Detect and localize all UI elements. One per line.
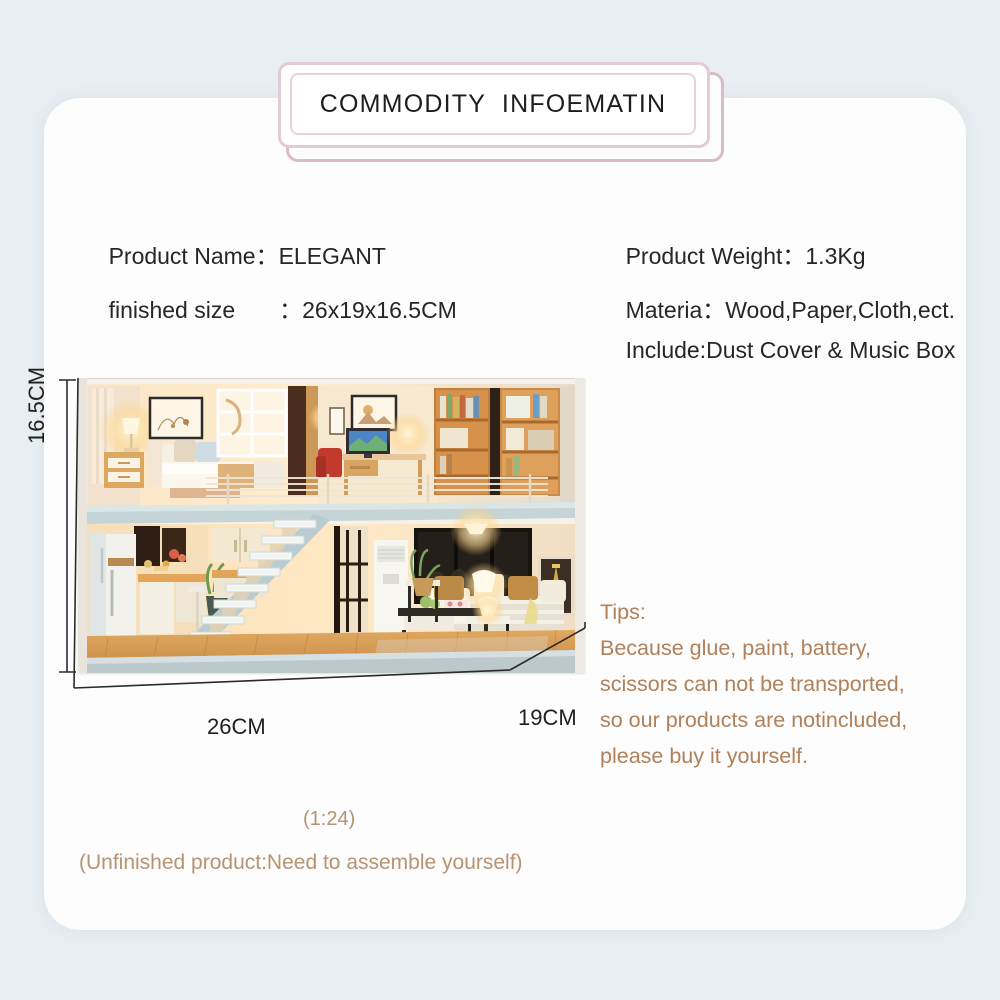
scale-caption: (1:24): [303, 808, 355, 831]
spec-include-label: Include:: [626, 337, 707, 363]
title-plaque: COMMODITY INFOEMATIN: [278, 62, 726, 162]
tips-heading: Tips:: [600, 594, 970, 630]
tips-line-2: scissors can not be transported,: [600, 666, 970, 702]
tips-line-1: Because glue, paint, battery,: [600, 630, 970, 666]
dimension-depth-label: 19CM: [518, 705, 577, 731]
title-plaque-inner-border: COMMODITY INFOEMATIN: [290, 73, 696, 135]
tips-line-3: so our products are notincluded,: [600, 702, 970, 738]
spec-finished-size-value: 26x19x16.5CM: [302, 297, 457, 323]
dimension-height-label: 16.5CM: [24, 367, 50, 444]
spec-finished-size-label: finished size: [109, 297, 236, 323]
height-measure-line: [56, 376, 78, 676]
tips-line-4: please buy it yourself.: [600, 738, 970, 774]
page-title: COMMODITY INFOEMATIN: [320, 90, 667, 119]
product-photo: [78, 378, 585, 673]
spec-include: Include:Dust Cover & Music Box: [600, 310, 955, 391]
dimension-width-label: 26CM: [207, 714, 266, 740]
product-info-page: COMMODITY INFOEMATIN Product Name：ELEGAN…: [0, 0, 1000, 1000]
spec-include-value: Dust Cover & Music Box: [706, 337, 955, 363]
assembly-note-caption: (Unfinished product:Need to assemble you…: [79, 851, 523, 875]
spec-finished-size-separator: ：: [279, 297, 302, 323]
spec-finished-size: finished size：26x19x16.5CM: [83, 264, 457, 352]
title-plaque-mid-border: COMMODITY INFOEMATIN: [278, 62, 710, 148]
tips-block: Tips: Because glue, paint, battery, scis…: [600, 594, 970, 774]
